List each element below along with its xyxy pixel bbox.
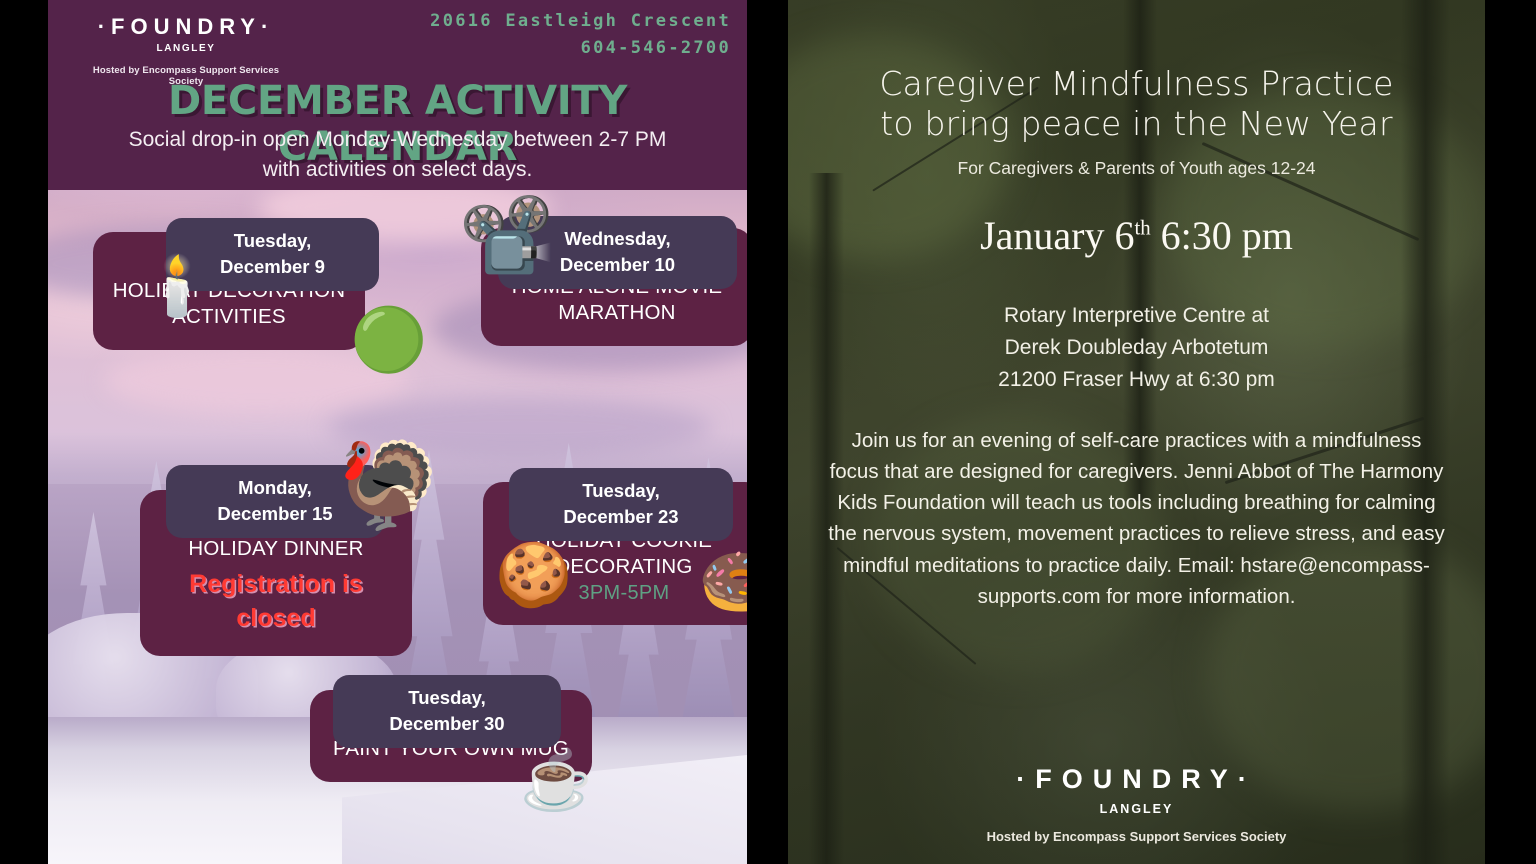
december-activity-calendar-poster: ·FOUNDRY· LANGLEY Hosted by Encompass Su… (48, 0, 747, 864)
venue-line-1: Rotary Interpretive Centre at (848, 300, 1425, 332)
foundry-logo: ·FOUNDRY· LANGLEY Hosted by Encompass Su… (76, 14, 296, 87)
event-date: January 6 (980, 213, 1134, 258)
page-title: Caregiver Mindfulness Practice to bring … (812, 64, 1461, 143)
weekday-label: Tuesday, (359, 685, 535, 711)
description-text: Join us for an evening of self-care prac… (826, 425, 1447, 612)
audience-label: For Caregivers & Parents of Youth ages 1… (828, 158, 1445, 179)
title-line-2: to bring peace in the New Year (812, 104, 1461, 144)
turkey-icon: 🦃 (336, 443, 441, 527)
event-time: 6:30 pm (1161, 213, 1293, 258)
address-text: 20616 Eastleigh Crescent (430, 8, 731, 35)
poster-pair-canvas: ·FOUNDRY· LANGLEY Hosted by Encompass Su… (0, 0, 1536, 864)
date-ordinal-suffix: th (1134, 217, 1150, 240)
weekday-label: Monday, (192, 475, 358, 501)
date-label: December 23 (535, 504, 707, 530)
title-line-1: Caregiver Mindfulness Practice (812, 64, 1461, 104)
contact-block: 20616 Eastleigh Crescent 604-546-2700 (430, 8, 731, 62)
date-label: December 30 (359, 711, 535, 737)
date-label: December 15 (192, 501, 358, 527)
hosted-by-text: Hosted by Encompass Support Services Soc… (788, 829, 1485, 844)
poster-content: Caregiver Mindfulness Practice to bring … (788, 0, 1485, 864)
activity-label: HOLIDAY DINNER (156, 536, 396, 562)
weekday-label: Tuesday, (192, 228, 353, 254)
candle-icon: 🕯️ (141, 258, 213, 316)
hot-cocoa-mug-icon: ☕ (520, 752, 592, 810)
event-datetime: January 6th 6:30 pm (788, 212, 1485, 259)
foundry-logo: ·FOUNDRY· LANGLEY Hosted by Encompass Su… (788, 764, 1485, 844)
venue-line-2: Derek Doubleday Arbotetum (848, 332, 1425, 364)
phone-text[interactable]: 604-546-2700 (430, 35, 731, 62)
poster-subtitle: Social drop-in open Monday-Wednesday bet… (108, 125, 687, 186)
foundry-wordmark: ·FOUNDRY· (76, 14, 296, 40)
venue-block: Rotary Interpretive Centre at Derek Doub… (848, 300, 1425, 396)
caregiver-mindfulness-poster: Caregiver Mindfulness Practice to bring … (788, 0, 1485, 864)
gingerbread-man-icon: 🍪 (495, 545, 572, 607)
ornament-icon: 🟢 (350, 310, 427, 372)
date-pill-dec-23: Tuesday, December 23 (509, 468, 733, 541)
frosted-cookie-icon: 🍩 (698, 548, 747, 616)
foundry-wordmark: ·FOUNDRY· (788, 764, 1485, 795)
status-badge: Registration is closed (156, 568, 396, 636)
foundry-city: LANGLEY (788, 802, 1485, 816)
weekday-label: Tuesday, (535, 478, 707, 504)
venue-line-3: 21200 Fraser Hwy at 6:30 pm (848, 364, 1425, 396)
poster-header: ·FOUNDRY· LANGLEY Hosted by Encompass Su… (48, 0, 747, 190)
film-projector-icon: 📽️ (459, 198, 554, 274)
date-label: December 9 (192, 254, 353, 280)
date-pill-dec-30: Tuesday, December 30 (333, 675, 561, 748)
foundry-city: LANGLEY (76, 43, 296, 54)
